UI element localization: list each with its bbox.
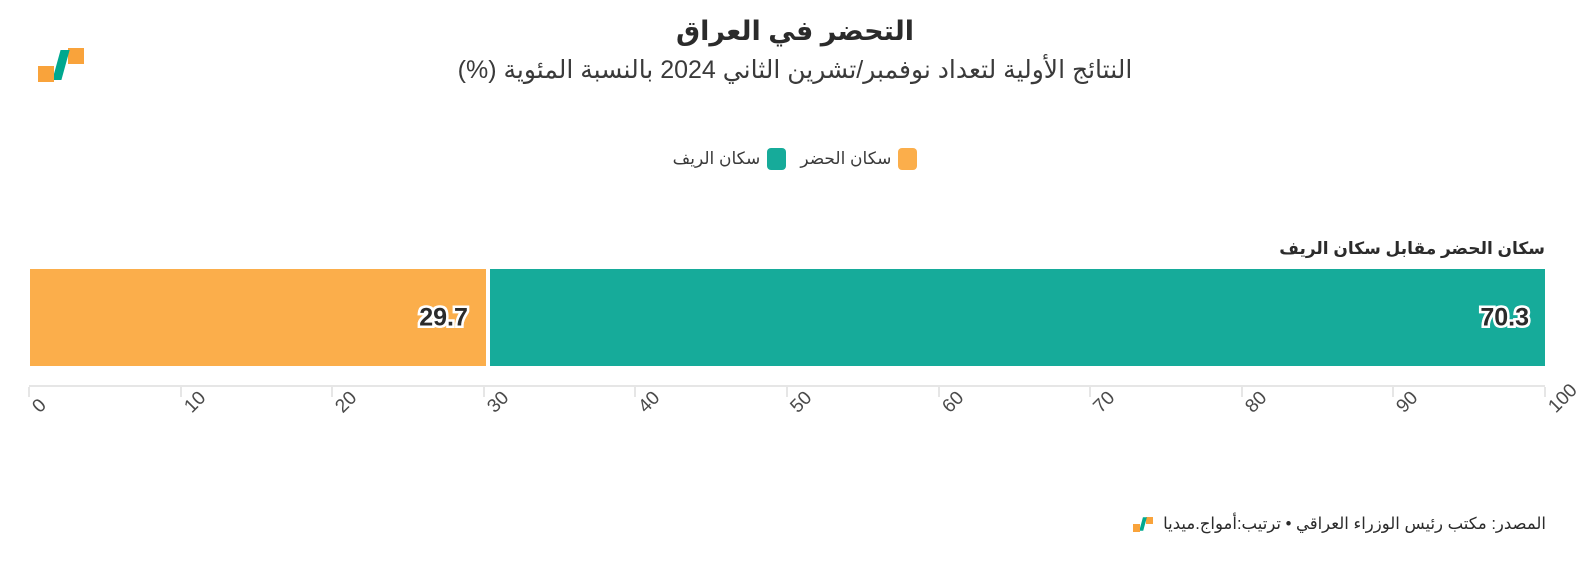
x-axis-tick <box>331 387 333 397</box>
x-axis-tick-label: 70 <box>1090 387 1121 418</box>
x-axis-tick <box>1089 387 1091 397</box>
x-axis-tick-label: 90 <box>1393 387 1424 418</box>
x-axis-tick-label: 30 <box>483 387 514 418</box>
legend-swatch-rural <box>767 148 786 170</box>
bar-segment-rural[interactable]: 70.3 <box>490 269 1545 366</box>
x-axis-tick-label: 100 <box>1544 380 1582 418</box>
x-axis-tick <box>483 387 485 397</box>
x-axis-tick-label: 10 <box>180 387 211 418</box>
x-axis-tick-label: 80 <box>1241 387 1272 418</box>
bar-value-rural: 70.3 <box>1480 303 1529 332</box>
x-axis-tick-label: 60 <box>938 387 969 418</box>
logo-square-top-right <box>1146 517 1153 524</box>
legend-label-urban: سكان الحضر <box>800 149 891 169</box>
chart-subtitle: النتائج الأولية لتعداد نوفمبر/تشرين الثا… <box>0 54 1590 88</box>
legend-item-urban[interactable]: سكان الحضر <box>800 148 917 170</box>
x-axis-tick <box>180 387 182 397</box>
x-axis-tick-label: 20 <box>332 387 363 418</box>
x-axis-tick <box>1392 387 1394 397</box>
logo-square-bottom-left <box>1133 524 1140 531</box>
legend-label-rural: سكان الريف <box>673 149 761 169</box>
legend-item-rural[interactable]: سكان الريف <box>673 148 787 170</box>
series-row-label: سكان الحضر مقابل سكان الريف <box>29 240 1545 257</box>
x-axis-tick <box>634 387 636 397</box>
x-axis-tick-label: 50 <box>786 387 817 418</box>
chart-header: التحضر في العراق النتائج الأولية لتعداد … <box>0 14 1590 87</box>
logo-diagonal-stroke <box>1139 517 1147 531</box>
x-axis-tick <box>1241 387 1243 397</box>
legend-swatch-urban <box>898 148 917 170</box>
x-axis-tick-label: 40 <box>635 387 666 418</box>
x-axis-tick <box>938 387 940 397</box>
x-axis-tick <box>786 387 788 397</box>
x-axis-tick <box>28 387 30 397</box>
amwaj-logo-footer <box>1133 517 1153 532</box>
chart-legend: سكان الحضر سكان الريف <box>0 148 1590 170</box>
x-axis-tick <box>1544 387 1546 397</box>
chart-footer: المصدر: مكتب رئيس الوزراء العراقي • ترتي… <box>1133 514 1546 534</box>
bar-segment-urban[interactable]: 29.7 <box>30 269 486 366</box>
chart-title: التحضر في العراق <box>0 14 1590 50</box>
plot-area: سكان الحضر مقابل سكان الريف 70.3 29.7 01… <box>29 240 1545 397</box>
source-note: المصدر: مكتب رئيس الوزراء العراقي • ترتي… <box>1163 514 1546 534</box>
bar-value-urban: 29.7 <box>419 303 468 332</box>
x-axis-tick-label: 0 <box>28 395 51 418</box>
x-axis: 0102030405060708090100 <box>29 385 1545 397</box>
stacked-bar: 70.3 29.7 <box>29 269 1545 366</box>
